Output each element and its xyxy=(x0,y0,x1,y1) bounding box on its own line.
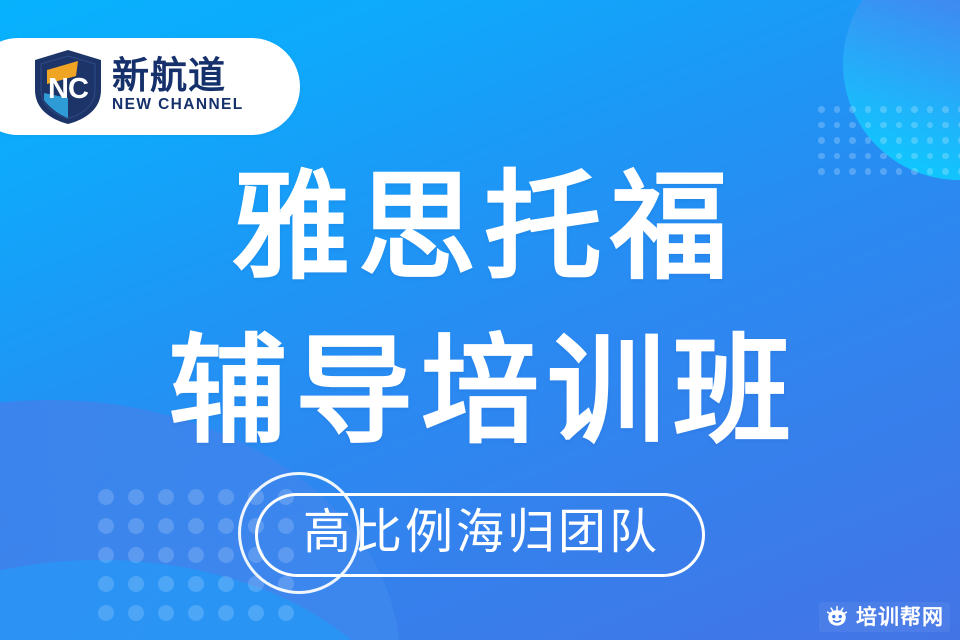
headline-line-1: 雅思托福 xyxy=(0,146,960,310)
watermark: 培训帮网 xyxy=(819,602,950,632)
svg-text:NC: NC xyxy=(48,73,89,105)
subtitle-container: 高比例海归团队 xyxy=(0,493,960,577)
promo-banner: NC 新航道 NEW CHANNEL 雅思托福 辅导培训班 高比例海归团队 xyxy=(0,0,960,640)
smiling-sun-face-icon xyxy=(825,605,849,629)
subtitle-pill: 高比例海归团队 xyxy=(255,493,705,577)
headline-line-2: 辅导培训班 xyxy=(0,310,960,474)
watermark-text: 培训帮网 xyxy=(856,607,944,628)
shield-icon: NC xyxy=(32,48,104,126)
headline: 雅思托福 辅导培训班 xyxy=(0,146,960,474)
brand-name-en: NEW CHANNEL xyxy=(112,95,244,116)
brand-name-cn: 新航道 xyxy=(112,57,244,95)
brand-logo: NC 新航道 NEW CHANNEL xyxy=(0,38,300,135)
